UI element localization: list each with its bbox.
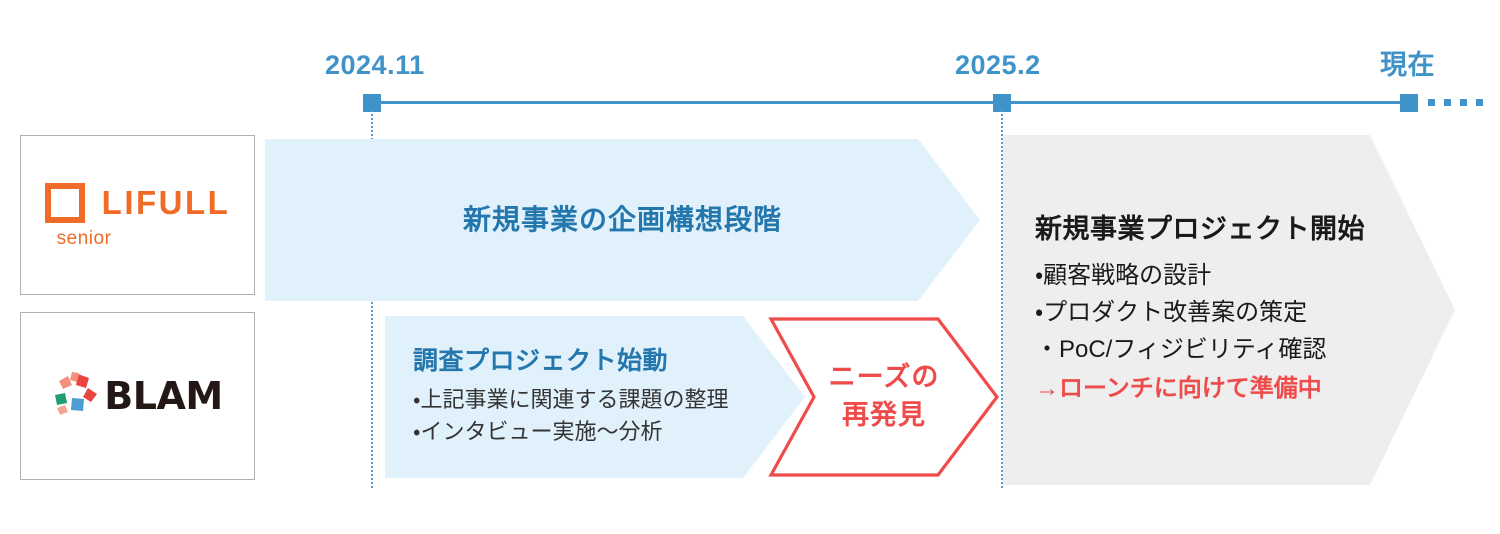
band-research-project: 調査プロジェクト始動 ・上記事業に関連する課題の整理 ・インタビュー実施〜分析 bbox=[385, 316, 805, 478]
lifull-bracket-icon bbox=[45, 183, 85, 223]
timeline-label-start: 2024.11 bbox=[325, 52, 425, 79]
timeline-guide-mid bbox=[1001, 110, 1003, 488]
band-research-item: ・インタビュー実施〜分析 bbox=[413, 416, 805, 448]
chevron-needs-rediscovery: ニーズの 再発見 bbox=[768, 316, 1000, 478]
lifull-wordmark: LIFULL bbox=[102, 186, 231, 219]
logo-box-lifull-senior: LIFULL senior bbox=[20, 135, 255, 295]
timeline-trailing-dot bbox=[1444, 99, 1451, 106]
logo-box-blam: BLAM bbox=[20, 312, 255, 480]
timeline-trailing-dot bbox=[1460, 99, 1467, 106]
band-research-item: ・上記事業に関連する課題の整理 bbox=[413, 384, 805, 416]
band-planning-title: 新規事業の企画構想段階 bbox=[463, 202, 782, 238]
band-research-heading: 調査プロジェクト始動 bbox=[413, 346, 805, 376]
timeline-label-mid: 2025.2 bbox=[955, 52, 1041, 79]
panel-project-item: ・プロダクト改善案の策定 bbox=[1035, 294, 1455, 331]
panel-project-note: →ローンチに向けて準備中 bbox=[1035, 370, 1455, 407]
panel-project-item: ・PoC/フィジビリティ確認 bbox=[1035, 331, 1455, 368]
timeline-trailing-dot bbox=[1428, 99, 1435, 106]
panel-project-heading: 新規事業プロジェクト開始 bbox=[1035, 213, 1455, 247]
blam-wordmark: BLAM bbox=[104, 377, 222, 415]
timeline-diagram: 2024.11 2025.2 現在 LIFULL senior bbox=[0, 0, 1500, 534]
timeline-marker-now bbox=[1400, 94, 1418, 112]
timeline-trailing-dot bbox=[1476, 99, 1483, 106]
panel-project-start: 新規事業プロジェクト開始 ・顧客戦略の設計 ・プロダクト改善案の策定 ・PoC/… bbox=[1003, 135, 1455, 485]
lifull-sub-label: senior bbox=[57, 229, 112, 248]
panel-project-item: ・顧客戦略の設計 bbox=[1035, 257, 1455, 294]
timeline-label-now: 現在 bbox=[1380, 52, 1435, 79]
blam-circle-icon bbox=[52, 371, 98, 422]
timeline-axis-line bbox=[370, 101, 1410, 104]
band-planning-phase: 新規事業の企画構想段階 bbox=[265, 139, 980, 301]
